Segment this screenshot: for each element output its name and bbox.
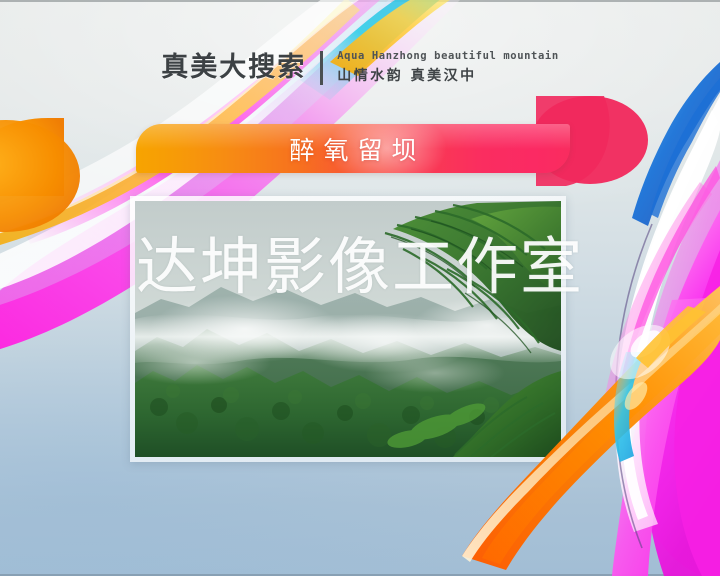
top-border-line <box>0 0 720 2</box>
brand-subtitle-group: Aqua Hanzhong beautiful mountain 山情水韵 真美… <box>337 50 559 85</box>
banner-title: 醉氧留坝 <box>280 131 425 167</box>
brand-slogan-cn: 山情水韵 真美汉中 <box>337 65 559 85</box>
poster-canvas: 真美大搜索 Aqua Hanzhong beautiful mountain 山… <box>0 0 720 576</box>
brand-divider-icon <box>320 51 323 85</box>
brand-header: 真美大搜索 Aqua Hanzhong beautiful mountain 山… <box>0 50 720 85</box>
photo-frame <box>130 196 566 462</box>
photo-image <box>135 201 561 457</box>
title-banner: 醉氧留坝 <box>136 124 570 173</box>
brand-title-cn: 真美大搜索 <box>161 54 320 81</box>
brand-title-en: Aqua Hanzhong beautiful mountain <box>337 50 559 62</box>
